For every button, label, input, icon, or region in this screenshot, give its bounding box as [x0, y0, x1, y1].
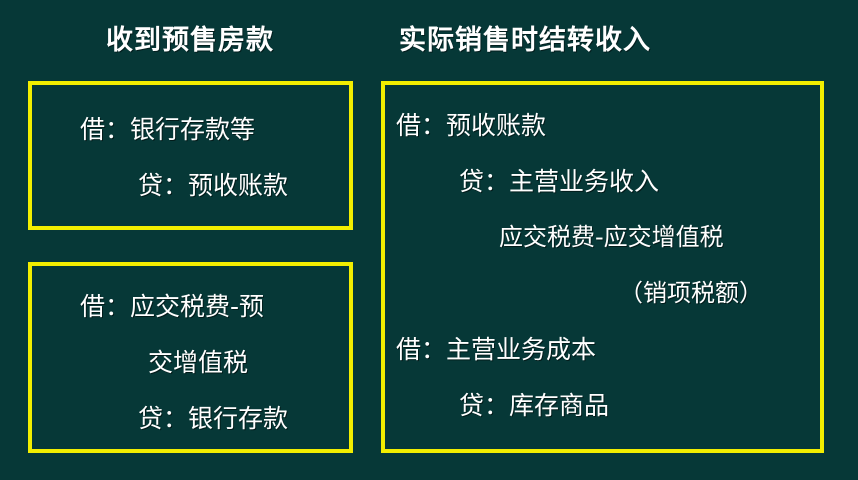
entry-line-credit-revenue: 贷：主营业务收入	[459, 169, 659, 194]
slide-canvas: 收到预售房款 实际销售时结转收入 借：银行存款等 贷：预收账款 借：应交税费-预…	[0, 0, 858, 480]
column-title-presale: 收到预售房款	[0, 18, 380, 57]
entry-line-debit-cost: 借：主营业务成本	[396, 337, 596, 362]
entry-box-prepaid-vat: 借：应交税费-预 交增值税 贷：银行存款	[28, 262, 353, 453]
entry-line-debit: 借：银行存款等	[80, 117, 255, 142]
entry-line-credit-vat-note: （销项税额）	[619, 281, 763, 305]
entry-line-debit-continuation: 交增值税	[148, 350, 248, 375]
entry-line-credit: 贷：银行存款	[138, 406, 288, 431]
entry-line-credit-vat: 应交税费-应交增值税	[499, 225, 724, 249]
entry-box-revenue-carry: 借：预收账款 贷：主营业务收入 应交税费-应交增值税 （销项税额） 借：主营业务…	[381, 81, 824, 453]
column-title-revenue: 实际销售时结转收入	[381, 18, 825, 57]
entry-line-credit: 贷：预收账款	[138, 173, 288, 198]
entry-box-presale-receipt: 借：银行存款等 贷：预收账款	[28, 81, 353, 230]
entry-line-credit-inventory: 贷：库存商品	[459, 393, 609, 418]
entry-line-debit: 借：应交税费-预	[80, 294, 264, 319]
entry-line-debit-prepaid: 借：预收账款	[396, 113, 546, 138]
